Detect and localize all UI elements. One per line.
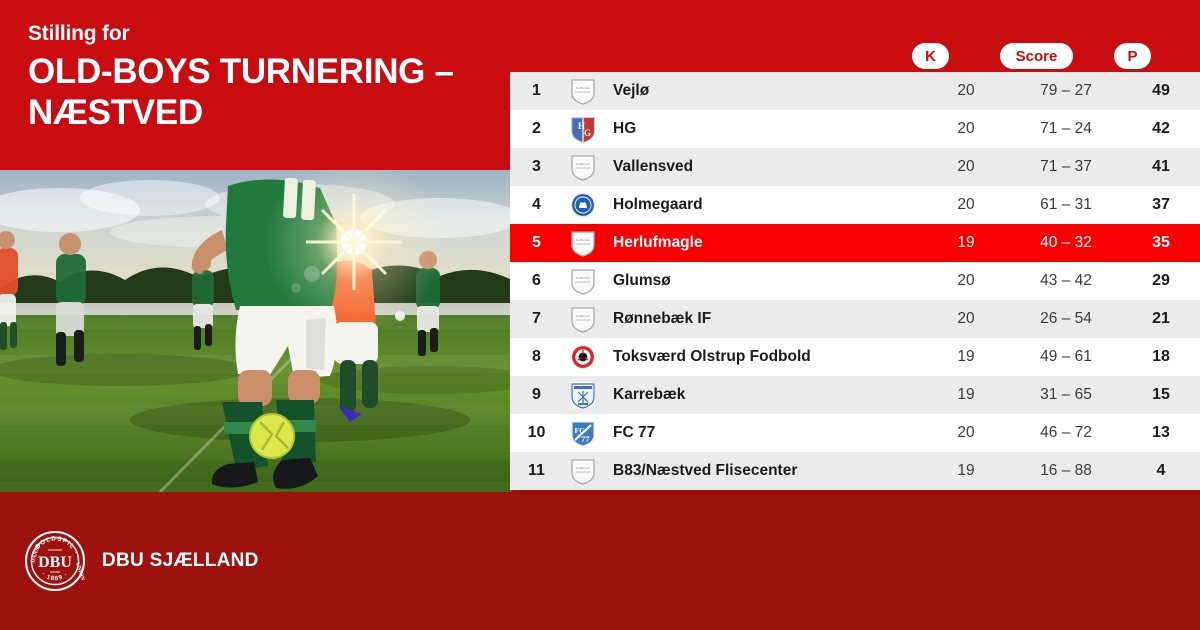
footer-bar: · BOLDSPIL · · 1889 · DANSK UNION DBU DB… bbox=[0, 492, 1200, 630]
row-points: 4 bbox=[1122, 462, 1200, 480]
club-crest-icon: KLUBLOGOIKKE VALGT bbox=[563, 457, 603, 485]
table-row[interactable]: 4Holmegaard2061 – 3137 bbox=[510, 186, 1200, 224]
column-header-k: K bbox=[912, 43, 949, 69]
row-points: 15 bbox=[1122, 386, 1200, 404]
svg-text:IKKE VALGT: IKKE VALGT bbox=[576, 166, 591, 170]
row-team-name: Holmegaard bbox=[603, 196, 922, 214]
svg-text:KLUBLOGO: KLUBLOGO bbox=[576, 238, 590, 242]
club-crest-icon: KLUBLOGOIKKE VALGT bbox=[563, 305, 603, 333]
row-goals: 61 – 31 bbox=[1010, 196, 1122, 214]
row-points: 49 bbox=[1122, 82, 1200, 100]
table-row[interactable]: 5KLUBLOGOIKKE VALGTHerlufmagle1940 – 323… bbox=[510, 224, 1200, 262]
row-matches: 20 bbox=[922, 310, 1010, 328]
row-matches: 20 bbox=[922, 272, 1010, 290]
photo-illustration bbox=[0, 170, 512, 492]
svg-text:KLUBLOGO: KLUBLOGO bbox=[576, 86, 590, 90]
row-points: 13 bbox=[1122, 424, 1200, 442]
svg-text:KLUBLOGO: KLUBLOGO bbox=[576, 162, 590, 166]
column-header-p: P bbox=[1114, 43, 1151, 69]
table-row[interactable]: 7KLUBLOGOIKKE VALGTRønnebæk IF2026 – 542… bbox=[510, 300, 1200, 338]
row-team-name: Toksværd Olstrup Fodbold bbox=[603, 348, 922, 366]
row-rank: 5 bbox=[510, 234, 563, 252]
page-title: OLD-BOYS TURNERING – NÆSTVED bbox=[28, 52, 498, 134]
row-team-name: Karrebæk bbox=[603, 386, 922, 404]
row-points: 29 bbox=[1122, 272, 1200, 290]
row-points: 37 bbox=[1122, 196, 1200, 214]
footer-org-name: DBU SJÆLLAND bbox=[102, 550, 259, 572]
table-row[interactable]: 11KLUBLOGOIKKE VALGTB83/Næstved Flisecen… bbox=[510, 452, 1200, 490]
row-matches: 20 bbox=[922, 424, 1010, 442]
row-goals: 31 – 65 bbox=[1010, 386, 1122, 404]
club-crest-icon: KLUBLOGOIKKE VALGT bbox=[563, 267, 603, 295]
row-team-name: Rønnebæk IF bbox=[603, 310, 922, 328]
row-points: 41 bbox=[1122, 158, 1200, 176]
football-match-photo bbox=[0, 170, 512, 492]
club-crest-icon: FC77 bbox=[563, 419, 603, 447]
club-crest-icon: KLUBLOGOIKKE VALGT bbox=[563, 153, 603, 181]
row-points: 35 bbox=[1122, 234, 1200, 252]
club-crest-icon bbox=[563, 191, 603, 219]
table-header: K Score P bbox=[510, 40, 1200, 72]
row-matches: 19 bbox=[922, 348, 1010, 366]
row-team-name: FC 77 bbox=[603, 424, 922, 442]
row-matches: 20 bbox=[922, 196, 1010, 214]
column-header-score: Score bbox=[1000, 43, 1073, 69]
svg-text:IKKE VALGT: IKKE VALGT bbox=[576, 90, 591, 94]
row-rank: 9 bbox=[510, 386, 563, 404]
row-matches: 19 bbox=[922, 386, 1010, 404]
row-team-name: Vallensved bbox=[603, 158, 922, 176]
row-points: 18 bbox=[1122, 348, 1200, 366]
row-goals: 79 – 27 bbox=[1010, 82, 1122, 100]
svg-text:KLUBLOGO: KLUBLOGO bbox=[576, 466, 590, 470]
row-rank: 1 bbox=[510, 82, 563, 100]
table-row[interactable]: 3KLUBLOGOIKKE VALGTVallensved2071 – 3741 bbox=[510, 148, 1200, 186]
row-rank: 7 bbox=[510, 310, 563, 328]
row-goals: 71 – 24 bbox=[1010, 120, 1122, 138]
row-team-name: B83/Næstved Flisecenter bbox=[603, 462, 922, 480]
svg-text:G: G bbox=[584, 128, 591, 138]
table-row[interactable]: 10FC77FC 772046 – 7213 bbox=[510, 414, 1200, 452]
svg-text:KLUBLOGO: KLUBLOGO bbox=[576, 314, 590, 318]
header-eyebrow: Stilling for bbox=[28, 22, 129, 46]
row-goals: 40 – 32 bbox=[1010, 234, 1122, 252]
row-matches: 20 bbox=[922, 82, 1010, 100]
row-team-name: Glumsø bbox=[603, 272, 922, 290]
row-goals: 26 – 54 bbox=[1010, 310, 1122, 328]
row-rank: 3 bbox=[510, 158, 563, 176]
row-matches: 19 bbox=[922, 234, 1010, 252]
row-points: 21 bbox=[1122, 310, 1200, 328]
row-team-name: Herlufmagle bbox=[603, 234, 922, 252]
svg-text:IKKE VALGT: IKKE VALGT bbox=[576, 470, 591, 474]
svg-text:KLUBLOGO: KLUBLOGO bbox=[576, 276, 590, 280]
club-crest-icon: KLUBLOGOIKKE VALGT bbox=[563, 229, 603, 257]
row-team-name: Vejlø bbox=[603, 82, 922, 100]
club-crest-icon: KLUBLOGOIKKE VALGT bbox=[563, 77, 603, 105]
club-crest-icon bbox=[563, 343, 603, 371]
row-goals: 71 – 37 bbox=[1010, 158, 1122, 176]
svg-text:77: 77 bbox=[581, 434, 590, 444]
row-points: 42 bbox=[1122, 120, 1200, 138]
dbu-logo-icon: · BOLDSPIL · · 1889 · DANSK UNION DBU bbox=[24, 530, 86, 592]
table-row[interactable]: 1KLUBLOGOIKKE VALGTVejlø2079 – 2749 bbox=[510, 72, 1200, 110]
club-crest-icon bbox=[563, 381, 603, 409]
svg-text:IKKE VALGT: IKKE VALGT bbox=[576, 318, 591, 322]
row-rank: 4 bbox=[510, 196, 563, 214]
table-body: 1KLUBLOGOIKKE VALGTVejlø2079 – 27492HGHG… bbox=[510, 72, 1200, 490]
row-goals: 46 – 72 bbox=[1010, 424, 1122, 442]
row-goals: 49 – 61 bbox=[1010, 348, 1122, 366]
poster-root: Stilling for OLD-BOYS TURNERING – NÆSTVE… bbox=[0, 0, 1200, 630]
row-matches: 20 bbox=[922, 158, 1010, 176]
row-goals: 43 – 42 bbox=[1010, 272, 1122, 290]
table-row[interactable]: 2HGHG2071 – 2442 bbox=[510, 110, 1200, 148]
svg-text:IKKE VALGT: IKKE VALGT bbox=[576, 280, 591, 284]
svg-text:DBU: DBU bbox=[38, 554, 72, 571]
svg-text:IKKE VALGT: IKKE VALGT bbox=[576, 242, 591, 246]
table-row[interactable]: 9Karrebæk1931 – 6515 bbox=[510, 376, 1200, 414]
row-rank: 11 bbox=[510, 462, 563, 480]
row-team-name: HG bbox=[603, 120, 922, 138]
row-rank: 6 bbox=[510, 272, 563, 290]
table-row[interactable]: 6KLUBLOGOIKKE VALGTGlumsø2043 – 4229 bbox=[510, 262, 1200, 300]
standings-table: K Score P 1KLUBLOGOIKKE VALGTVejlø2079 –… bbox=[510, 40, 1200, 490]
row-rank: 8 bbox=[510, 348, 563, 366]
row-goals: 16 – 88 bbox=[1010, 462, 1122, 480]
row-matches: 20 bbox=[922, 120, 1010, 138]
club-crest-icon: HG bbox=[563, 115, 603, 143]
row-rank: 10 bbox=[510, 424, 563, 442]
table-row[interactable]: 8Toksværd Olstrup Fodbold1949 – 6118 bbox=[510, 338, 1200, 376]
row-rank: 2 bbox=[510, 120, 563, 138]
row-matches: 19 bbox=[922, 462, 1010, 480]
